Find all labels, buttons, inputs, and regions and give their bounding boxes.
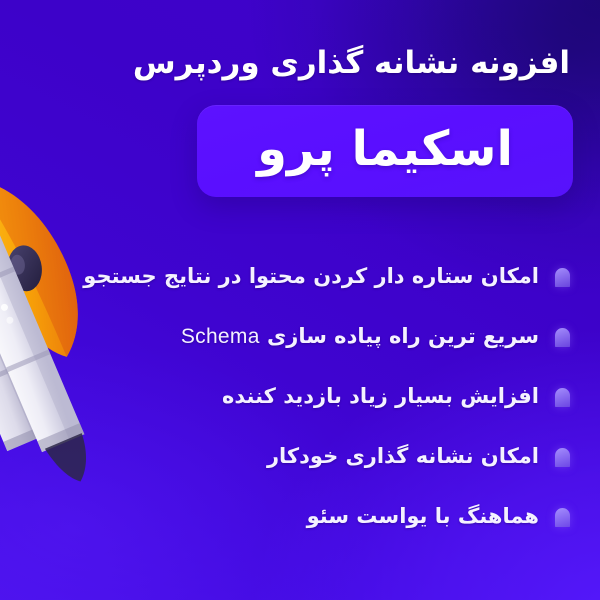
feature-label-latin: Schema [181, 325, 260, 348]
headline-container: افزونه نشانه گذاری وردپرس [30, 44, 570, 83]
feature-list: امکان ستاره دار کردن محتوا در نتایج جستج… [30, 255, 570, 555]
promo-poster: افزونه نشانه گذاری وردپرس اسکیما پرو امک… [0, 0, 600, 600]
page-title: افزونه نشانه گذاری وردپرس [30, 44, 570, 83]
list-item: امکان نشانه گذاری خودکار [30, 435, 570, 479]
rounded-tab-bullet-icon [555, 268, 570, 287]
feature-label-prefix: سریع ترین راه پیاده سازی [260, 324, 539, 348]
rounded-tab-bullet-icon [555, 388, 570, 407]
feature-label: امکان نشانه گذاری خودکار [267, 443, 539, 470]
rounded-tab-bullet-icon [555, 448, 570, 467]
list-item: سریع ترین راه پیاده سازی Schema [30, 315, 570, 359]
product-name: اسکیما پرو [257, 125, 513, 177]
feature-label: افزایش بسیار زیاد بازدید کننده [222, 383, 539, 410]
feature-label: امکان ستاره دار کردن محتوا در نتایج جستج… [83, 263, 539, 290]
list-item: هماهنگ با یواست سئو [30, 495, 570, 539]
rounded-tab-bullet-icon [555, 328, 570, 347]
list-item: امکان ستاره دار کردن محتوا در نتایج جستج… [30, 255, 570, 299]
list-item: افزایش بسیار زیاد بازدید کننده [30, 375, 570, 419]
feature-label: هماهنگ با یواست سئو [307, 503, 539, 530]
rounded-tab-bullet-icon [555, 508, 570, 527]
feature-label: سریع ترین راه پیاده سازی Schema [181, 323, 539, 350]
product-title-badge: اسکیما پرو [197, 105, 573, 197]
